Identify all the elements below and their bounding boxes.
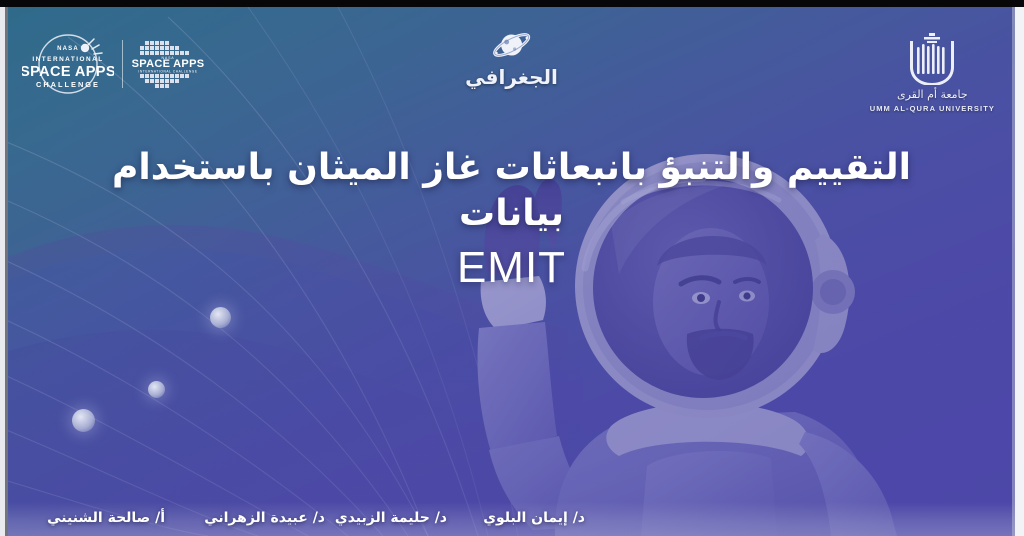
university-name-english: UMM AL-QURA UNIVERSITY <box>870 104 995 113</box>
geographic-club-logo: الجغرافي <box>465 29 558 89</box>
author-name: د/ حليمة الزبيدي <box>335 510 447 526</box>
logo-row: NASA INTERNATIONAL SPACE APPS CHALLENGE <box>8 7 1015 117</box>
nasa-space-apps-logo: NASA INTERNATIONAL SPACE APPS CHALLENGE <box>22 33 205 95</box>
svg-text:SPACE APPS: SPACE APPS <box>22 64 114 80</box>
university-name-arabic: جامعة أم القرى <box>897 88 968 101</box>
glow-dot <box>148 381 165 398</box>
page-title-english: EMIT <box>8 243 1015 294</box>
svg-text:CHALLENGE: CHALLENGE <box>36 80 100 89</box>
top-black-bar <box>0 0 1024 7</box>
geographic-club-label: الجغرافي <box>465 65 558 89</box>
space-apps-pixel-map-icon: SPACE APPS NASA INTERNATIONAL CHALLENGE <box>131 33 205 95</box>
glow-dot <box>210 307 231 328</box>
title-slide: NASA INTERNATIONAL SPACE APPS CHALLENGE <box>8 7 1015 536</box>
svg-text:NASA: NASA <box>162 56 175 60</box>
slide-right-border <box>1015 7 1024 536</box>
page-title-arabic: التقييم والتنبؤ بانبعاثات غاز الميثان با… <box>8 145 1015 237</box>
logo-divider <box>122 40 123 88</box>
svg-text:NASA: NASA <box>57 46 79 52</box>
umm-al-qura-university-crest-icon <box>902 29 962 85</box>
slide-left-inner-edge <box>5 7 8 536</box>
nasa-space-apps-challenge-icon: NASA INTERNATIONAL SPACE APPS CHALLENGE <box>22 33 114 95</box>
planet-saturn-icon <box>489 29 533 63</box>
author-name: د/ إيمان البلوي <box>483 510 585 526</box>
glow-dot <box>72 409 95 432</box>
screenshot-canvas: NASA INTERNATIONAL SPACE APPS CHALLENGE <box>0 0 1024 536</box>
umm-al-qura-university-logo: جامعة أم القرى UMM AL-QURA UNIVERSITY <box>870 29 995 113</box>
title-block: التقييم والتنبؤ بانبعاثات غاز الميثان با… <box>8 145 1015 294</box>
slide-left-border <box>0 7 5 536</box>
author-name: أ/ صالحة الشنيني <box>47 510 165 526</box>
svg-text:INTERNATIONAL: INTERNATIONAL <box>32 56 103 63</box>
svg-text:INTERNATIONAL CHALLENGE: INTERNATIONAL CHALLENGE <box>138 70 197 74</box>
author-name: د/ عبيدة الزهراني <box>204 510 325 526</box>
